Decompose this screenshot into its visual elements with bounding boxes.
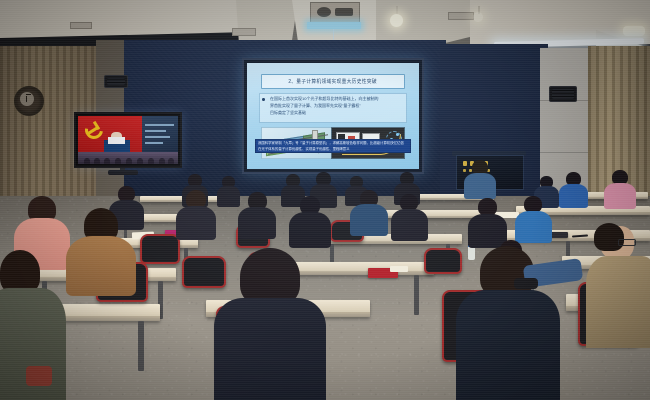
- slide-body-box: 在国际上首次实现10个光子和超导比特的基础上，向主被制的 界首批实现了量子计算、…: [259, 93, 407, 123]
- wall-speaker: [104, 75, 128, 88]
- ceiling-vent: [448, 12, 474, 20]
- shoe: [514, 278, 538, 289]
- ceiling-spotlight: [623, 26, 645, 36]
- wall-clock: [14, 86, 44, 116]
- wall-speaker: [549, 86, 577, 102]
- lecture-hall-photo: 2、量子计算机领域实现重大历史性突破 在国际上首次实现10个光子和超导比特的基础…: [0, 0, 650, 400]
- chair: [140, 234, 180, 264]
- slide-banner-line-1: 我国科学家研制「九章」号「量子计算原型机」，求解高斯玻色取样问题，比超级计算机快…: [258, 141, 408, 147]
- ceiling-projector: [310, 2, 360, 24]
- eyeglasses-icon: [618, 239, 636, 246]
- bullet-icon: [262, 98, 265, 101]
- chair: [182, 256, 226, 288]
- hammer-sickle-icon: [84, 120, 104, 137]
- ceiling-vent: [70, 22, 92, 29]
- tv-stand-base: [108, 170, 138, 175]
- slide-title-box: 2、量子计算机领域实现重大历史性突破: [261, 74, 405, 89]
- broadcast-audience: [78, 152, 178, 164]
- slide-title-text: 2、量子计算机领域实现重大历史性突破: [289, 78, 378, 85]
- ceiling-vent: [232, 28, 256, 36]
- wall-tv-broadcast: [74, 112, 182, 168]
- projection-screen: 2、量子计算机领域实现重大历史性突破 在国际上首次实现10个光子和超导比特的基础…: [242, 58, 424, 174]
- chair: [424, 248, 462, 274]
- slide-body-line-3: 目标奠定了坚实基础: [270, 110, 403, 116]
- broadcast-speaker-body: [108, 137, 125, 144]
- projector-light-beam: [307, 22, 361, 29]
- broadcast-side-panel: [142, 116, 178, 152]
- presentation-slide: 2、量子计算机领域实现重大历史性突破 在国际上首次实现10个光子和超导比特的基础…: [247, 63, 419, 169]
- slide-body-line-1: 在国际上首次实现10个光子和超导比特的基础上，向主被制的: [270, 96, 403, 102]
- ceiling-spotlight: [390, 14, 403, 27]
- white-paper: [390, 266, 408, 272]
- slide-banner-line-2: 在光子体系的量子计算优越性、实现量子优越性、里程碑意义: [258, 147, 408, 153]
- slide-body-line-2: 界首批实现了量子计算、为我国率先实现"量子霸权": [270, 103, 403, 109]
- handbag: [26, 366, 52, 386]
- ceiling-spotlight: [473, 12, 483, 22]
- slide-bottom-banner: 我国科学家研制「九章」号「量子计算原型机」，求解高斯玻色取样问题，比超级计算机快…: [255, 139, 411, 153]
